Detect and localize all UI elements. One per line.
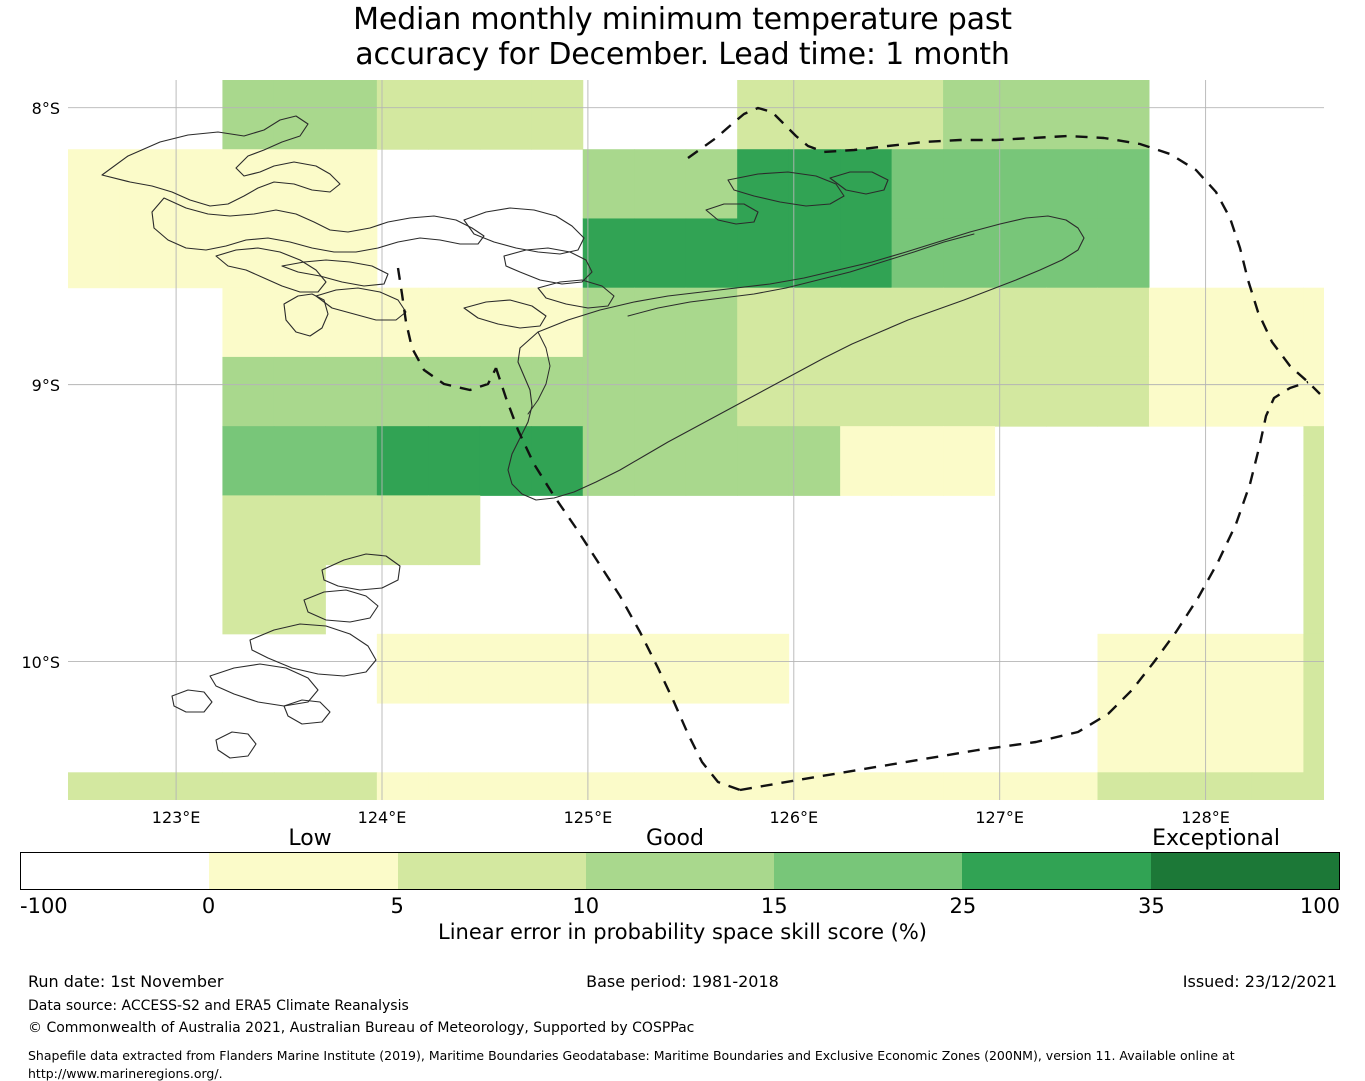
heatmap-cell[interactable] — [1098, 772, 1150, 800]
title-line-2: accuracy for December. Lead time: 1 mont… — [0, 37, 1365, 72]
heatmap-cell[interactable] — [789, 772, 841, 800]
heatmap-cell[interactable] — [583, 218, 635, 288]
heatmap-cell[interactable] — [1200, 772, 1252, 800]
colorbar-tick-label: 25 — [949, 894, 976, 918]
heatmap-cell[interactable] — [943, 357, 995, 427]
heatmap-cell[interactable] — [480, 634, 532, 704]
heatmap-cell[interactable] — [171, 772, 223, 800]
heatmap-cell[interactable] — [274, 218, 326, 288]
heatmap-cell[interactable] — [737, 218, 789, 288]
heatmap-cell[interactable] — [686, 357, 738, 427]
colorbar-tick-label: -100 — [20, 894, 68, 918]
heatmap-cell[interactable] — [1098, 634, 1150, 704]
heatmap-cell[interactable] — [789, 357, 841, 427]
heatmap-cell[interactable] — [428, 426, 480, 496]
heatmap-cell[interactable] — [274, 357, 326, 427]
heatmap-cell[interactable] — [274, 149, 326, 219]
heatmap-cell[interactable] — [686, 218, 738, 288]
heatmap-cell[interactable] — [1098, 357, 1150, 427]
heatmap-cell[interactable] — [892, 149, 944, 219]
colorbar-category-label: Low — [288, 826, 331, 851]
heatmap-cell[interactable] — [325, 772, 377, 800]
heatmap-cell[interactable] — [531, 288, 583, 358]
heatmap-cell[interactable] — [840, 426, 892, 496]
y-axis-tick-label: 9°S — [2, 376, 60, 395]
heatmap-cell[interactable] — [325, 149, 377, 219]
title-line-1: Median monthly minimum temperature past — [0, 2, 1365, 37]
heatmap-cell[interactable] — [377, 634, 429, 704]
heatmap-cell[interactable] — [1252, 772, 1304, 800]
heatmap-cell[interactable] — [377, 426, 429, 496]
heatmap-cell[interactable] — [892, 218, 944, 288]
heatmap-cell[interactable] — [428, 288, 480, 358]
heatmap-cell[interactable] — [943, 218, 995, 288]
heatmap-cell[interactable] — [325, 288, 377, 358]
heatmap-cell[interactable] — [1149, 634, 1201, 704]
heatmap-cell[interactable] — [428, 80, 480, 150]
heatmap-cell[interactable] — [531, 357, 583, 427]
x-axis-tick-label: 125°E — [564, 808, 613, 827]
base-period-text: Base period: 1981-2018 — [0, 972, 1365, 991]
heatmap-cell[interactable] — [892, 80, 944, 150]
heatmap-cell[interactable] — [892, 772, 944, 800]
issued-date-text: Issued: 23/12/2021 — [1183, 972, 1337, 991]
heatmap-cell[interactable] — [1303, 357, 1324, 427]
heatmap-cell[interactable] — [1200, 288, 1252, 358]
heatmap-cell[interactable] — [274, 772, 326, 800]
colorbar-tick-label: 5 — [390, 894, 403, 918]
heatmap-cell[interactable] — [1252, 288, 1304, 358]
heatmap-cell[interactable] — [686, 426, 738, 496]
heatmap-cell[interactable] — [789, 80, 841, 150]
heatmap-cell[interactable] — [480, 80, 532, 150]
heatmap-cell[interactable] — [737, 426, 789, 496]
heatmap-cell[interactable] — [995, 772, 1047, 800]
heatmap-cell[interactable] — [377, 357, 429, 427]
shapefile-credit-line-1: Shapefile data extracted from Flanders M… — [28, 1048, 1235, 1063]
heatmap-cell[interactable] — [1149, 357, 1201, 427]
heatmap-cell[interactable] — [1252, 703, 1304, 773]
heatmap-cell[interactable] — [1303, 288, 1324, 358]
colorbar-gradient[interactable] — [20, 852, 1340, 890]
heatmap-cell[interactable] — [274, 426, 326, 496]
map-canvas — [68, 80, 1324, 800]
heatmap-cell[interactable] — [377, 772, 429, 800]
heatmap-cell[interactable] — [840, 772, 892, 800]
heatmap-cell[interactable] — [634, 149, 686, 219]
heatmap-cell[interactable] — [222, 772, 274, 800]
colorbar-swatch[interactable] — [1151, 853, 1339, 889]
heatmap-cell[interactable] — [789, 149, 841, 219]
heatmap-cell[interactable] — [222, 357, 274, 427]
colorbar-tick-label: 10 — [572, 894, 599, 918]
shapefile-credit-line-2[interactable]: http://www.marineregions.org/. — [28, 1066, 223, 1081]
colorbar-swatch[interactable] — [398, 853, 586, 889]
heatmap-cell[interactable] — [119, 149, 171, 219]
heatmap-cell[interactable] — [995, 288, 1047, 358]
heatmap-cell[interactable] — [377, 80, 429, 150]
heatmap-cell[interactable] — [428, 357, 480, 427]
heatmap-cell[interactable] — [1149, 772, 1201, 800]
heatmap-cell[interactable] — [892, 426, 944, 496]
heatmap-cell[interactable] — [325, 357, 377, 427]
colorbar-swatch[interactable] — [209, 853, 397, 889]
heatmap-cell[interactable] — [737, 149, 789, 219]
x-axis-tick-label: 124°E — [358, 808, 407, 827]
copyright-text: © Commonwealth of Australia 2021, Austra… — [28, 1020, 694, 1036]
heatmap-cell[interactable] — [1303, 495, 1324, 565]
heatmap-cell[interactable] — [583, 772, 635, 800]
heatmap-cell[interactable] — [583, 357, 635, 427]
heatmap-cell[interactable] — [686, 288, 738, 358]
heatmap-cell[interactable] — [583, 426, 635, 496]
heatmap-cell[interactable] — [634, 218, 686, 288]
heatmap-cell[interactable] — [1200, 634, 1252, 704]
heatmap-cell[interactable] — [995, 357, 1047, 427]
heatmap-cell[interactable] — [840, 288, 892, 358]
heatmap-cell[interactable] — [634, 357, 686, 427]
heatmap-cell[interactable] — [1098, 703, 1150, 773]
heatmap-cell[interactable] — [428, 634, 480, 704]
heatmap-cell[interactable] — [840, 357, 892, 427]
heatmap-cell[interactable] — [119, 772, 171, 800]
heatmap-cell[interactable] — [222, 80, 274, 150]
heatmap-cell[interactable] — [325, 426, 377, 496]
heatmap-cell[interactable] — [222, 218, 274, 288]
heatmap-cell[interactable] — [943, 80, 995, 150]
colorbar[interactable]: -1000510152535100 — [20, 852, 1340, 890]
heatmap-cell[interactable] — [68, 218, 120, 288]
heatmap-cell[interactable] — [531, 80, 583, 150]
heatmap-cell[interactable] — [222, 495, 274, 565]
heatmap-cell[interactable] — [892, 357, 944, 427]
heatmap-cell[interactable] — [1046, 149, 1098, 219]
heatmap-cell[interactable] — [840, 80, 892, 150]
heatmap-cell[interactable] — [222, 426, 274, 496]
colorbar-swatch[interactable] — [962, 853, 1150, 889]
heatmap-cell[interactable] — [325, 80, 377, 150]
heatmap-cell[interactable] — [480, 288, 532, 358]
heatmap-cell[interactable] — [1303, 634, 1324, 704]
heatmap-cell[interactable] — [1046, 357, 1098, 427]
heatmap-cell[interactable] — [686, 634, 738, 704]
heatmap-cell[interactable] — [222, 288, 274, 358]
colorbar-category-label: Good — [646, 826, 704, 851]
heatmap-cell[interactable] — [583, 634, 635, 704]
heatmap-cell[interactable] — [428, 772, 480, 800]
heatmap-cell[interactable] — [377, 495, 429, 565]
heatmap-cell-layer — [68, 80, 1324, 800]
page-title: Median monthly minimum temperature past … — [0, 2, 1365, 72]
heatmap-cell[interactable] — [789, 288, 841, 358]
colorbar-swatch[interactable] — [774, 853, 962, 889]
colorbar-category-label: Exceptional — [1152, 826, 1280, 851]
heatmap-cell[interactable] — [583, 149, 635, 219]
heatmap-cell[interactable] — [1046, 80, 1098, 150]
heatmap-cell[interactable] — [1252, 634, 1304, 704]
y-axis-tick-label: 10°S — [2, 653, 60, 672]
heatmap-cell[interactable] — [171, 218, 223, 288]
heatmap-cell[interactable] — [1200, 357, 1252, 427]
x-axis-tick-label: 123°E — [152, 808, 201, 827]
heatmap-cell[interactable] — [68, 149, 120, 219]
heatmap-cell[interactable] — [68, 772, 120, 800]
x-axis-tick-label: 127°E — [975, 808, 1024, 827]
heatmap-cell[interactable] — [1149, 288, 1201, 358]
heatmap-cell[interactable] — [995, 149, 1047, 219]
heatmap-cell[interactable] — [840, 218, 892, 288]
heatmap-cell[interactable] — [531, 634, 583, 704]
heatmap-cell[interactable] — [1303, 703, 1324, 773]
heatmap-cell[interactable] — [943, 426, 995, 496]
skill-score-map[interactable] — [68, 80, 1324, 800]
colorbar-tick-label: 0 — [202, 894, 215, 918]
heatmap-cell[interactable] — [1098, 149, 1150, 219]
heatmap-cell[interactable] — [789, 426, 841, 496]
x-axis-tick-label: 128°E — [1181, 808, 1230, 827]
heatmap-cell[interactable] — [1303, 565, 1324, 635]
colorbar-tick-label: 100 — [1300, 894, 1340, 918]
heatmap-cell[interactable] — [634, 288, 686, 358]
heatmap-cell[interactable] — [1303, 772, 1324, 800]
heatmap-cell[interactable] — [737, 357, 789, 427]
heatmap-cell[interactable] — [274, 80, 326, 150]
heatmap-cell[interactable] — [1098, 218, 1150, 288]
colorbar-swatch[interactable] — [586, 853, 774, 889]
heatmap-cell[interactable] — [171, 149, 223, 219]
heatmap-cell[interactable] — [274, 495, 326, 565]
heatmap-cell[interactable] — [634, 634, 686, 704]
heatmap-cell[interactable] — [1303, 426, 1324, 496]
heatmap-cell[interactable] — [222, 565, 274, 635]
heatmap-cell[interactable] — [480, 357, 532, 427]
heatmap-cell[interactable] — [1252, 357, 1304, 427]
y-axis-tick-label: 8°S — [2, 99, 60, 118]
heatmap-cell[interactable] — [943, 772, 995, 800]
heatmap-cell[interactable] — [1046, 772, 1098, 800]
colorbar-tick-label: 15 — [761, 894, 788, 918]
x-axis-tick-label: 126°E — [769, 808, 818, 827]
heatmap-cell[interactable] — [1200, 703, 1252, 773]
heatmap-cell[interactable] — [737, 288, 789, 358]
heatmap-cell[interactable] — [428, 495, 480, 565]
heatmap-cell[interactable] — [634, 772, 686, 800]
heatmap-cell[interactable] — [480, 772, 532, 800]
heatmap-cell[interactable] — [222, 149, 274, 219]
heatmap-cell[interactable] — [1149, 703, 1201, 773]
heatmap-cell[interactable] — [531, 772, 583, 800]
heatmap-cell[interactable] — [531, 426, 583, 496]
colorbar-swatch[interactable] — [21, 853, 209, 889]
footer: Run date: 1st November Base period: 1981… — [0, 972, 1365, 1080]
heatmap-cell[interactable] — [789, 218, 841, 288]
heatmap-cell[interactable] — [1046, 288, 1098, 358]
heatmap-cell[interactable] — [325, 218, 377, 288]
colorbar-axis-label: Linear error in probability space skill … — [0, 920, 1365, 944]
heatmap-cell[interactable] — [480, 426, 532, 496]
heatmap-cell[interactable] — [1098, 288, 1150, 358]
heatmap-cell[interactable] — [119, 218, 171, 288]
heatmap-cell[interactable] — [943, 149, 995, 219]
colorbar-tick-label: 35 — [1138, 894, 1165, 918]
heatmap-cell[interactable] — [892, 288, 944, 358]
data-source-text: Data source: ACCESS-S2 and ERA5 Climate … — [28, 998, 409, 1014]
heatmap-cell[interactable] — [583, 288, 635, 358]
heatmap-cell[interactable] — [737, 634, 789, 704]
heatmap-cell[interactable] — [840, 149, 892, 219]
